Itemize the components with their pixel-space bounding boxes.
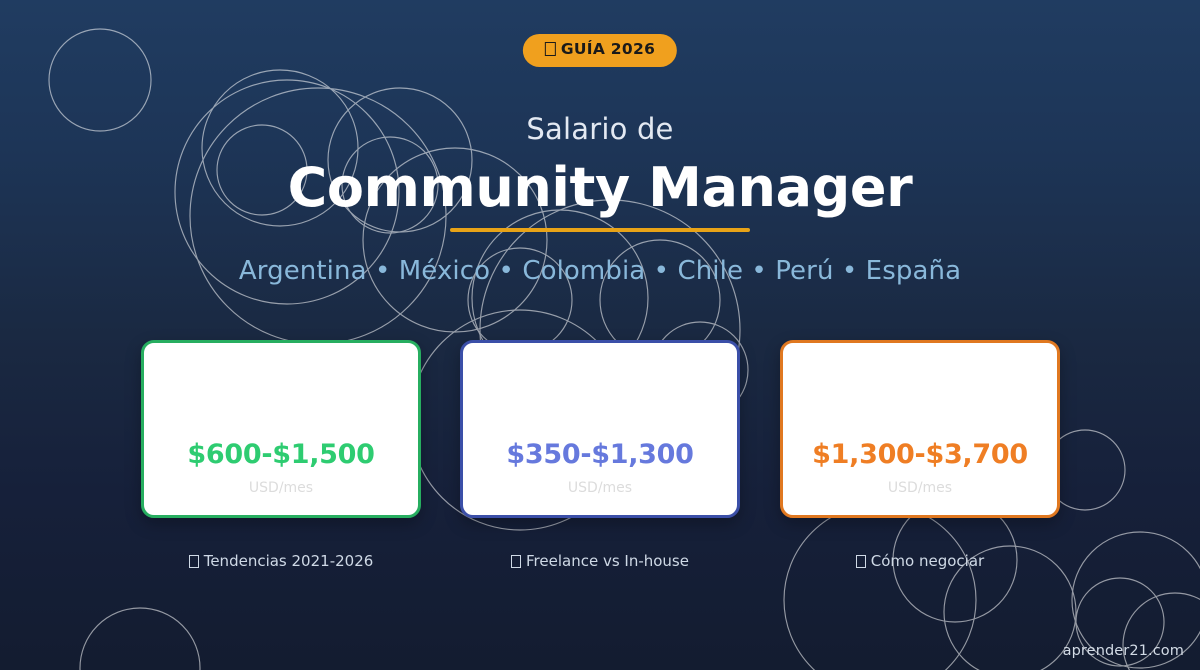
salary-range-value: $1,300-$3,700 — [783, 441, 1057, 468]
feature-caption-negotiate[interactable]: Cómo negociar — [780, 549, 1060, 573]
salary-unit-label: USD/mes — [463, 481, 737, 495]
missing-glyph-box-icon — [545, 42, 556, 56]
salary-card-junior[interactable]: $600-$1,500 USD/mes — [141, 340, 421, 518]
feature-caption-freelance[interactable]: Freelance vs In-house — [460, 549, 740, 573]
missing-glyph-box-icon — [511, 555, 521, 568]
title-accent-bar — [450, 228, 750, 232]
missing-glyph-box-icon — [856, 555, 866, 568]
salary-range-value: $350-$1,300 — [463, 441, 737, 468]
poster-root: GUÍA 2026 Salario de Community Manager A… — [0, 0, 1200, 670]
feature-label: Freelance vs In-house — [526, 552, 689, 570]
missing-glyph-box-icon — [189, 555, 199, 568]
salary-unit-label: USD/mes — [144, 481, 418, 495]
feature-captions: Tendencias 2021-2026 Freelance vs In-hou… — [0, 549, 1200, 575]
site-watermark: aprender21.com — [1063, 644, 1184, 659]
feature-label: Tendencias 2021-2026 — [204, 552, 374, 570]
page-title: Community Manager — [0, 158, 1200, 217]
salary-cards: $600-$1,500 USD/mes $350-$1,300 USD/mes … — [0, 340, 1200, 520]
salary-card-freelance[interactable]: $350-$1,300 USD/mes — [460, 340, 740, 518]
guide-year-badge[interactable]: GUÍA 2026 — [523, 34, 677, 67]
salary-unit-label: USD/mes — [783, 481, 1057, 495]
eyebrow-text: Salario de — [0, 112, 1200, 146]
country-list: Argentina • México • Colombia • Chile • … — [0, 256, 1200, 286]
salary-range-value: $600-$1,500 — [144, 441, 418, 468]
feature-label: Cómo negociar — [871, 552, 984, 570]
poster-content: GUÍA 2026 Salario de Community Manager A… — [0, 0, 1200, 670]
badge-label: GUÍA 2026 — [561, 40, 655, 58]
salary-card-senior[interactable]: $1,300-$3,700 USD/mes — [780, 340, 1060, 518]
feature-caption-trends[interactable]: Tendencias 2021-2026 — [141, 549, 421, 573]
